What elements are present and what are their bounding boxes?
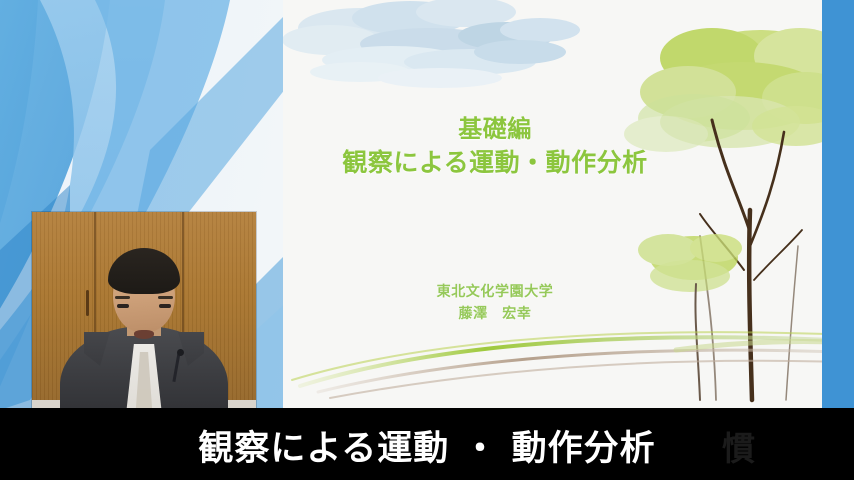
mouth — [134, 330, 154, 339]
video-frame: 基礎編 観察による運動・動作分析 東北文化学園大学 藤澤 宏幸 慣 観察による運… — [0, 0, 854, 480]
slide-subtitle: 東北文化学園大学 藤澤 宏幸 — [285, 282, 705, 325]
slide-title: 基礎編 観察による運動・動作分析 — [285, 114, 705, 180]
presenter-video-inset — [32, 212, 256, 408]
eye-right — [159, 304, 171, 308]
eyebrow-right — [158, 296, 173, 299]
caption-text: 観察による運動 ・ 動作分析 — [0, 420, 854, 471]
right-accent-bar — [822, 0, 854, 410]
slide-presenter-name: 藤澤 宏幸 — [285, 304, 705, 326]
slide-title-line2: 観察による運動・動作分析 — [285, 147, 705, 180]
eyebrow-left — [115, 296, 130, 299]
eye-left — [117, 304, 129, 308]
lapel-mic-icon — [177, 349, 184, 356]
slide-title-line1: 基礎編 — [285, 114, 705, 145]
slide-organization: 東北文化学園大学 — [285, 282, 705, 304]
caption-bar: 慣 観察による運動 ・ 動作分析 — [0, 408, 854, 480]
door-handle — [86, 290, 89, 316]
